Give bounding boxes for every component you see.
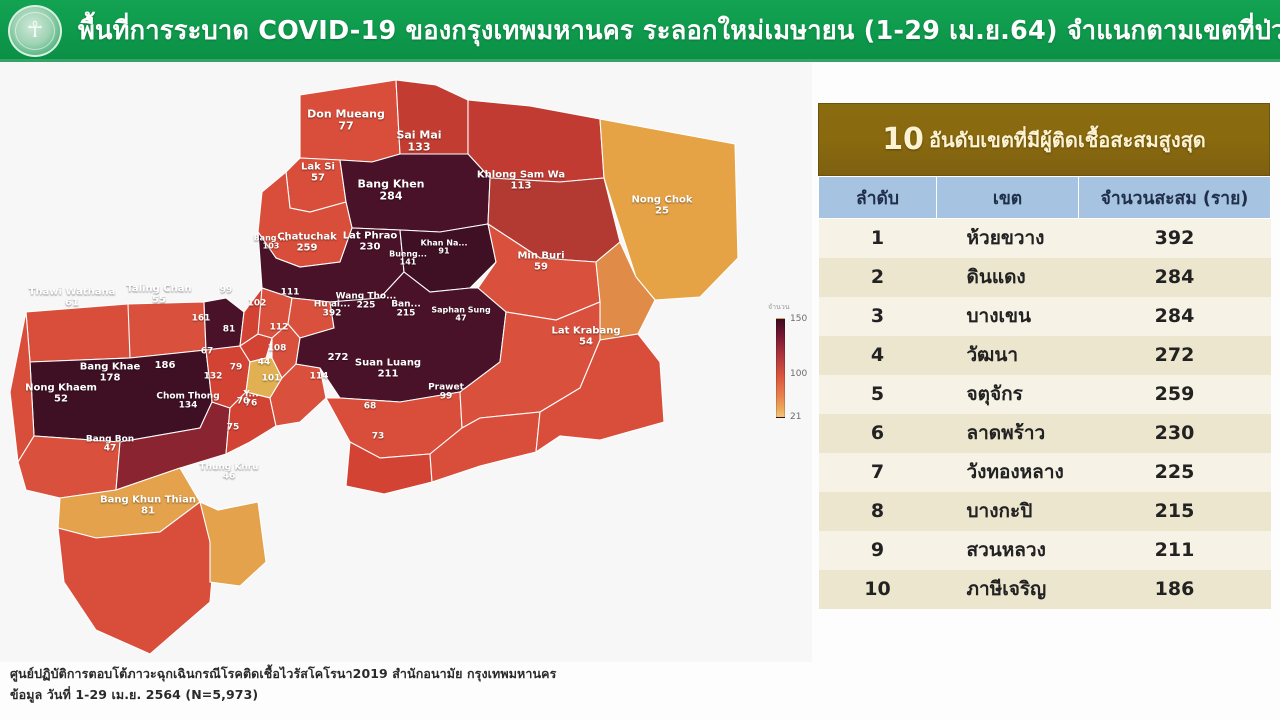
cell-district: วัฒนา [937, 336, 1079, 375]
footer-line-2: ข้อมูล วันที่ 1-29 เม.ย. 2564 (N=5,973) [10, 685, 556, 706]
cell-rank: 5 [819, 375, 937, 414]
table-row: 9สวนหลวง211 [819, 531, 1271, 570]
cell-count: 392 [1079, 219, 1271, 258]
cell-count: 215 [1079, 492, 1271, 531]
table-row: 1ห้วยขวาง392 [819, 219, 1271, 258]
table-row: 4วัฒนา272 [819, 336, 1271, 375]
cell-district: ห้วยขวาง [937, 219, 1079, 258]
cell-district: ภาษีเจริญ [937, 570, 1079, 609]
cell-rank: 2 [819, 258, 937, 297]
table-row: 2ดินแดง284 [819, 258, 1271, 297]
cell-count: 211 [1079, 531, 1271, 570]
cell-rank: 9 [819, 531, 937, 570]
cell-district: วังทองหลาง [937, 453, 1079, 492]
ranking-title: 10อันดับเขตที่มีผู้ติดเชื้อสะสมสูงสุด [818, 103, 1270, 176]
cell-rank: 10 [819, 570, 937, 609]
cell-rank: 8 [819, 492, 937, 531]
ranking-title-text: อันดับเขตที่มีผู้ติดเชื้อสะสมสูงสุด [929, 124, 1206, 156]
cell-district: สวนหลวง [937, 531, 1079, 570]
cell-count: 230 [1079, 414, 1271, 453]
legend-tick-min: 21 [790, 412, 801, 422]
cell-count: 284 [1079, 258, 1271, 297]
cell-count: 186 [1079, 570, 1271, 609]
table-row: 3บางเขน284 [819, 297, 1271, 336]
ranking-title-number: 10 [882, 122, 924, 157]
emblem-inner-glyph: ☥ [15, 12, 55, 50]
cell-rank: 6 [819, 414, 937, 453]
column-header-rank: ลำดับ [819, 177, 937, 219]
cell-district: บางกะปิ [937, 492, 1079, 531]
table-row: 8บางกะปิ215 [819, 492, 1271, 531]
legend-tick-mid: 100 [790, 369, 807, 379]
column-header-count: จำนวนสะสม (ราย) [1079, 177, 1271, 219]
cell-district: บางเขน [937, 297, 1079, 336]
footer-line-1: ศูนย์ปฏิบัติการตอบโต้ภาวะฉุกเฉินกรณีโรคต… [10, 664, 556, 685]
cell-count: 225 [1079, 453, 1271, 492]
department-of-health-emblem-icon: ☥ [8, 5, 62, 57]
column-header-district: เขต [937, 177, 1079, 219]
map-shapes [0, 62, 812, 662]
legend-gradient-bar [776, 318, 785, 418]
cell-district: ดินแดง [937, 258, 1079, 297]
slide-root: ☥ พื้นที่การระบาด COVID-19 ของกรุงเทพมหา… [0, 0, 1280, 720]
ranking-table: ลำดับ เขต จำนวนสะสม (ราย) 1ห้วยขวาง3922ด… [818, 176, 1271, 609]
top-districts-panel: 10อันดับเขตที่มีผู้ติดเชื้อสะสมสูงสุด ลำ… [818, 103, 1270, 609]
cell-rank: 3 [819, 297, 937, 336]
table-row: 5จตุจักร259 [819, 375, 1271, 414]
ranking-table-body: 1ห้วยขวาง3922ดินแดง2843บางเขน2844วัฒนา27… [819, 219, 1271, 609]
cell-district: จตุจักร [937, 375, 1079, 414]
cell-district: ลาดพร้าว [937, 414, 1079, 453]
cell-rank: 1 [819, 219, 937, 258]
cell-count: 259 [1079, 375, 1271, 414]
header-band: ☥ พื้นที่การระบาด COVID-19 ของกรุงเทพมหา… [0, 0, 1280, 62]
cell-rank: 4 [819, 336, 937, 375]
table-header-row: ลำดับ เขต จำนวนสะสม (ราย) [819, 177, 1271, 219]
legend-tick-max: 150 [790, 314, 807, 324]
page-title: พื้นที่การระบาด COVID-19 ของกรุงเทพมหานค… [78, 0, 1274, 62]
bangkok-choropleth-map: Don Mueang77Sai Mai133Lak Si57Bang Khen2… [0, 62, 812, 662]
cell-rank: 7 [819, 453, 937, 492]
table-row: 10ภาษีเจริญ186 [819, 570, 1271, 609]
footer-source-note: ศูนย์ปฏิบัติการตอบโต้ภาวะฉุกเฉินกรณีโรคต… [10, 664, 556, 705]
table-row: 6ลาดพร้าว230 [819, 414, 1271, 453]
table-row: 7วังทองหลาง225 [819, 453, 1271, 492]
cell-count: 284 [1079, 297, 1271, 336]
cell-count: 272 [1079, 336, 1271, 375]
